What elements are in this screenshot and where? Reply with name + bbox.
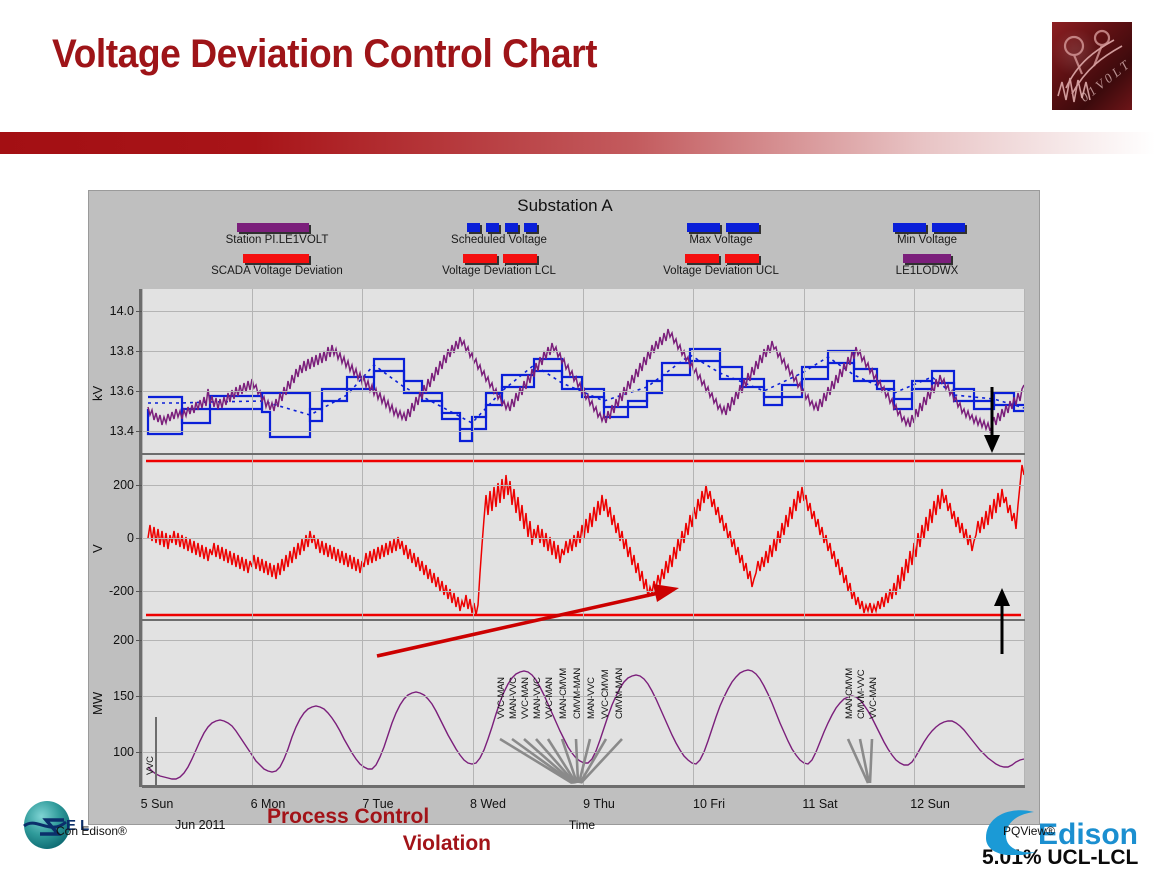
legend-swatch-solid-purple — [237, 223, 317, 232]
panel-v — [142, 455, 1025, 621]
title-divider — [0, 132, 1155, 154]
plot-stack: VVC VVC-MAN MAN-VVC VVC-MAN — [139, 289, 1025, 787]
legend-item-station-pi: Station PI.LE1VOLT — [187, 223, 367, 246]
event-label-cmvm-vvc: CMVM-VVC — [856, 641, 867, 719]
event-label-man-vvc-3: MAN-VVC — [586, 647, 597, 719]
y-axis-label-kv: kV — [90, 386, 105, 401]
event-label-vvc-man-3: VVC-MAN — [544, 647, 555, 719]
event-label-vvc-man-1: VVC-MAN — [496, 647, 507, 719]
process-control-violation-annotation: Process Control Violation — [267, 803, 507, 857]
panel-mw: VVC VVC-MAN MAN-VVC VVC-MAN — [142, 621, 1025, 787]
event-label-vvc-man-4: VVC-MAN — [868, 647, 879, 719]
legend-item-deviation-lcl: Voltage Deviation LCL — [409, 254, 589, 277]
event-label-man-cmvm-1: MAN-CMVM — [558, 641, 569, 719]
legend-item-deviation-ucl: Voltage Deviation UCL — [631, 254, 811, 277]
y-axis-v: V 200 0 -200 — [92, 455, 142, 621]
event-label-cmvm-man-1: CMVM-MAN — [572, 641, 583, 719]
event-label-man-vvc-1: MAN-VVC — [508, 647, 519, 719]
event-label-cmvm-man-2: CMVM-MAN — [614, 641, 625, 719]
panel-separator-3 — [142, 785, 1025, 788]
legend-swatch-dotted-blue — [459, 223, 539, 232]
svg-text:0 1 V 0 L T: 0 1 V 0 L T — [1077, 57, 1132, 105]
control-chart-panel: Substation A Station PI.LE1VOLT Schedule… — [88, 190, 1040, 825]
event-label-vvc: VVC — [145, 717, 156, 775]
event-label-man-cmvm-2: MAN-CMVM — [844, 641, 855, 719]
kv-down-arrow-annotation-icon — [962, 385, 1022, 455]
legend-item-scada-deviation: SCADA Voltage Deviation — [187, 254, 367, 277]
event-leader-fan-right — [842, 713, 902, 787]
legend-swatch-solid-red — [237, 254, 317, 263]
legend-row-top: Station PI.LE1VOLT Scheduled Voltage Max… — [89, 223, 1041, 257]
page-title: Voltage Deviation Control Chart — [52, 32, 597, 77]
ucl-lcl-arrow-icon — [982, 586, 1022, 656]
y-axis-kv: kV 14.0 13.8 13.6 13.4 — [92, 289, 142, 455]
legend-swatch-dashed-blue-min — [887, 223, 967, 232]
legend-item-min-voltage: Min Voltage — [837, 223, 1017, 246]
y-axis-label-mw: MW — [90, 692, 105, 715]
legend-swatch-dashed-red-lcl — [459, 254, 539, 263]
event-label-vvc-man-2: VVC-MAN — [520, 647, 531, 719]
footer-brand-label: Con Edison® — [56, 824, 127, 838]
event-leader-fan-middle — [494, 713, 654, 787]
y-axis-label-v: V — [90, 544, 105, 553]
event-label-man-vvc-2: MAN-VVC — [532, 647, 543, 719]
event-label-vvc-cmvm: VVC-CMVM — [600, 641, 611, 719]
legend-swatch-dashed-red-ucl — [681, 254, 761, 263]
y-axis-mw: MW 200 150 100 — [92, 621, 142, 787]
footer-product-label: PQView® — [1003, 824, 1055, 838]
legend-swatch-solid-purple-load — [887, 254, 967, 263]
legend-item-scheduled-voltage: Scheduled Voltage — [409, 223, 589, 246]
legend-item-max-voltage: Max Voltage — [631, 223, 811, 246]
legend-row-bottom: SCADA Voltage Deviation Voltage Deviatio… — [89, 254, 1041, 288]
x-axis-month: Jun 2011 — [175, 818, 226, 832]
legend-swatch-dashed-blue-max — [681, 223, 761, 232]
voltage-squiggle-logo-icon: 0 1 V 0 L T — [1052, 22, 1132, 110]
legend-item-le1lodwx: LE1LODWX — [837, 254, 1017, 277]
chart-title: Substation A — [89, 196, 1041, 216]
panel-kv — [142, 289, 1025, 455]
